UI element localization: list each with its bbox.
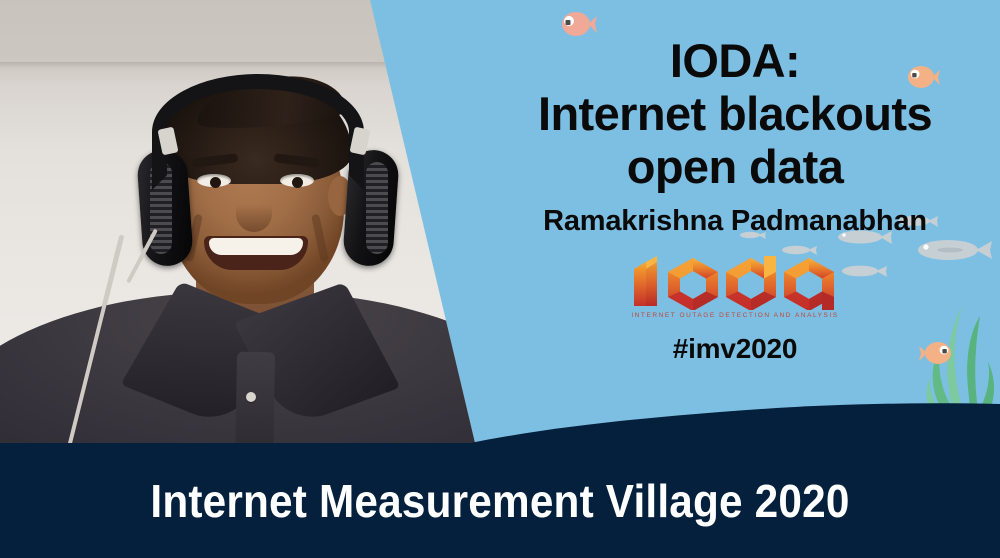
event-banner: Internet Measurement Village 2020 (0, 443, 1000, 558)
event-banner-title: Internet Measurement Village 2020 (150, 474, 849, 528)
headphone-headband (152, 74, 364, 190)
title-line-3: open data (470, 140, 1000, 193)
teeth (209, 238, 303, 255)
title-card: IODA: Internet blackouts open data Ramak… (0, 0, 1000, 558)
title-line-1: IODA: (470, 34, 1000, 87)
ioda-logotype-icon (631, 256, 839, 310)
content-panel: IODA: Internet blackouts open data Ramak… (470, 0, 1000, 447)
page-title: IODA: Internet blackouts open data (470, 0, 1000, 193)
nose (236, 186, 272, 232)
ioda-logo: INTERNET OUTAGE DETECTION AND ANALYSIS (470, 256, 1000, 319)
ioda-logo-tagline: INTERNET OUTAGE DETECTION AND ANALYSIS (631, 312, 838, 319)
title-line-2: Internet blackouts (470, 87, 1000, 140)
headphone-ring-right (366, 162, 388, 254)
shirt-button (246, 392, 256, 402)
smile (204, 236, 308, 270)
event-hashtag: #imv2020 (470, 333, 1000, 365)
speaker-name: Ramakrishna Padmanabhan (470, 205, 1000, 238)
